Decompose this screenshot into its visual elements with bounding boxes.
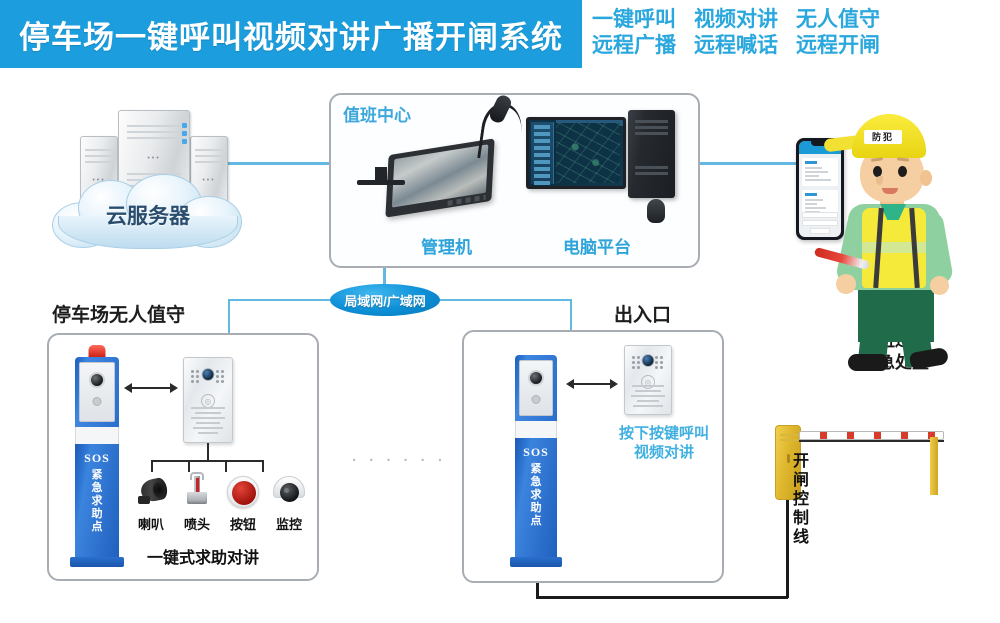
- sos-vertical-text-right: 紧 急 求 助 点: [515, 463, 557, 528]
- tagline-1-line1: 一键呼叫: [592, 7, 676, 33]
- gate-boom-shadow: [799, 440, 944, 442]
- mouse-icon: [647, 199, 665, 223]
- right-panel-note: 按下按键呼叫 视频对讲: [604, 424, 724, 462]
- tree-bus-left: [151, 460, 263, 462]
- device-label-sprinkler: 喷头: [184, 514, 210, 533]
- sos-text-right: SOS: [515, 445, 557, 460]
- sos-char-3: 求: [75, 495, 119, 508]
- device-label-computer-platform: 电脑平台: [563, 233, 631, 258]
- tagline-2: 视频对讲 远程喊话: [694, 7, 778, 59]
- sos-pole-white-band: [75, 427, 119, 444]
- sos-pole-head-right: [515, 355, 557, 421]
- tagline-1: 一键呼叫 远程广播: [592, 7, 676, 59]
- emergency-button-icon: [227, 476, 259, 508]
- sos-pole-body: SOS 紧 急 求 助 点: [75, 444, 119, 567]
- page-title: 停车场一键呼叫视频对讲广播开闸系统: [19, 12, 563, 57]
- sos-r-char-5: 点: [515, 515, 557, 528]
- monitor-stand-icon: [375, 167, 387, 181]
- gate-label-char-5: 线: [790, 528, 812, 547]
- sos-char-1: 紧: [75, 469, 119, 482]
- sos-r-char-1: 紧: [515, 463, 557, 476]
- network-bus-left: [228, 299, 332, 301]
- gate-label-char-4: 制: [790, 509, 812, 528]
- guard-ear: [920, 170, 932, 186]
- sos-pole-white-band-right: [515, 421, 557, 438]
- intercom-panel-right: ◎: [624, 345, 672, 415]
- sos-pole-base-left: [70, 557, 124, 567]
- diagram-canvas: 停车场一键呼叫视频对讲广播开闸系统 一键呼叫 远程广播 视频对讲 远程喊话 无人…: [0, 0, 1000, 623]
- gate-support-post-icon: [930, 437, 938, 495]
- device-icon-row: 喇叭 喷头 按钮 监控: [131, 470, 311, 532]
- network-drop-right: [570, 299, 572, 330]
- device-label-speaker: 喇叭: [138, 514, 164, 533]
- sprinkler-icon: [187, 472, 207, 506]
- keyboard-icon: [530, 201, 641, 219]
- header-banner: 停车场一键呼叫视频对讲广播开闸系统: [0, 0, 582, 68]
- pole-camera-icon-right: [528, 370, 544, 386]
- cloud-server-label: 云服务器: [52, 200, 244, 230]
- duty-center-panel: 值班中心 管理机 电脑平台: [329, 93, 700, 268]
- guard-cap-text: 防犯: [864, 130, 902, 144]
- left-panel-footer-label: 一键式求助对讲: [147, 544, 259, 568]
- pc-tower-icon: [628, 110, 675, 198]
- cloud-server-group: ••• ••• •••: [52, 100, 252, 255]
- device-label-management-machine: 管理机: [421, 233, 472, 258]
- sos-char-2: 急: [75, 482, 119, 495]
- monitor-icon: [526, 117, 626, 189]
- gate-control-line-label: 开 闸 控 制 线: [790, 452, 812, 547]
- right-panel-note-line1: 按下按键呼叫: [604, 424, 724, 443]
- device-label-button: 按钮: [230, 514, 256, 533]
- device-label-camera: 监控: [276, 514, 302, 533]
- sos-r-char-3: 求: [515, 489, 557, 502]
- sos-r-char-2: 急: [515, 476, 557, 489]
- bidirectional-arrow-left: [124, 382, 178, 394]
- network-bus-right: [438, 299, 572, 301]
- gate-label-char-3: 控: [790, 490, 812, 509]
- monitor-base-icon: [357, 180, 405, 185]
- gate-boom-arm-icon: [799, 431, 944, 440]
- sos-vertical-text-left: 紧 急 求 助 点: [75, 469, 119, 534]
- tagline-3: 无人值守 远程开闸: [796, 7, 880, 59]
- tagline-2-line1: 视频对讲: [694, 7, 778, 33]
- panel-separator-dots: · · · · · ·: [352, 452, 447, 469]
- guard-nose: [876, 176, 883, 185]
- bidirectional-arrow-right: [566, 378, 618, 390]
- gate-label-char-1: 开: [790, 452, 812, 471]
- network-label: 局域网/广域网: [344, 291, 426, 310]
- sos-pole-body-right: SOS 紧 急 求 助 点: [515, 438, 557, 567]
- dome-camera-icon: [273, 476, 305, 506]
- sos-r-char-4: 助: [515, 502, 557, 515]
- gate-cable-horizontal: [536, 596, 788, 599]
- tagline-1-line2: 远程广播: [592, 33, 676, 59]
- sos-text-left: SOS: [75, 451, 119, 466]
- pole-camera-icon: [89, 372, 105, 388]
- guard-eye-right: [898, 166, 907, 177]
- link-duty-to-phone: [698, 162, 800, 165]
- duty-center-title: 值班中心: [343, 101, 411, 126]
- pole-call-button-icon: [93, 397, 102, 406]
- network-badge: 局域网/广域网: [330, 284, 440, 316]
- right-panel-note-line2: 视频对讲: [604, 443, 724, 462]
- guard-left-shoe: [848, 354, 888, 371]
- intercom-panel-left: ◎: [183, 357, 233, 443]
- sos-pole-base-right: [510, 557, 562, 567]
- gate-label-char-2: 闸: [790, 471, 812, 490]
- tree-trunk-left: [207, 443, 209, 461]
- sos-pole-head: [75, 357, 119, 427]
- intercom-camera-icon: [202, 368, 215, 381]
- header-taglines: 一键呼叫 远程广播 视频对讲 远程喊话 无人值守 远程开闸: [592, 7, 992, 65]
- right-panel-caption: 出入口: [614, 300, 671, 327]
- left-panel-caption: 停车场无人值守: [52, 300, 185, 327]
- sos-pole-right: SOS 紧 急 求 助 点: [515, 355, 557, 577]
- tagline-3-line2: 远程开闸: [796, 33, 880, 59]
- sos-char-4: 助: [75, 508, 119, 521]
- guard-left-hand: [836, 274, 856, 294]
- network-drop-left: [228, 299, 230, 333]
- intercom-camera-icon-right: [642, 354, 655, 367]
- tagline-2-line2: 远程喊话: [694, 33, 778, 59]
- sos-char-5: 点: [75, 521, 119, 534]
- sos-pole-left: SOS 紧 急 求 助 点: [75, 345, 119, 577]
- tagline-3-line1: 无人值守: [796, 7, 880, 33]
- speaker-icon: [135, 478, 167, 504]
- pole-call-button-icon-right: [532, 395, 541, 404]
- guard-right-hand: [930, 276, 949, 295]
